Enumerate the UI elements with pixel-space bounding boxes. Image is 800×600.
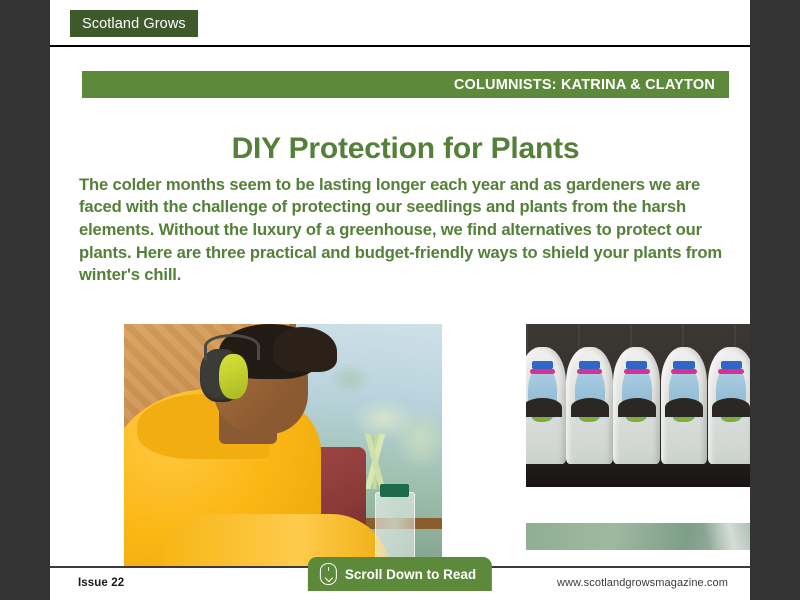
columnists-ribbon-label: COLUMNISTS: KATRINA & CLAYTON <box>454 77 715 93</box>
photo-cloche-notch <box>526 398 562 417</box>
photo-cloche-notch <box>712 398 750 417</box>
photo-cloche-cap <box>721 361 742 369</box>
magazine-viewer: Scotland Grows COLUMNISTS: KATRINA & CLA… <box>0 0 800 600</box>
scroll-down-to-read-button[interactable]: Scroll Down to Read <box>308 557 492 591</box>
columnists-ribbon: COLUMNISTS: KATRINA & CLAYTON <box>82 71 729 98</box>
photo-cloche-ring <box>577 369 603 375</box>
mouse-scroll-down-icon <box>320 563 337 585</box>
photo-teen-headphones <box>124 324 442 566</box>
photo-cloche-notch <box>618 398 656 417</box>
photo-cloche-ring <box>671 369 697 375</box>
brand-tab-scotland-grows[interactable]: Scotland Grows <box>70 10 198 37</box>
photo-water-bottle <box>375 492 415 566</box>
photo-cloche-notch <box>665 398 703 417</box>
photo-cloche-ring <box>718 369 744 375</box>
photo-cloche-notch <box>571 398 609 417</box>
magazine-page[interactable]: COLUMNISTS: KATRINA & CLAYTON DIY Protec… <box>50 47 750 566</box>
photo-cloche <box>563 347 616 464</box>
page-title: DIY Protection for Plants <box>82 133 729 165</box>
photo-cloche-ring <box>624 369 650 375</box>
photo-cloche-cap <box>673 361 694 369</box>
photo-right-column <box>486 308 750 566</box>
photo-cloche-ring <box>530 369 556 375</box>
website-url[interactable]: www.scotlandgrowsmagazine.com <box>557 577 728 589</box>
intro-paragraph: The colder months seem to be lasting lon… <box>79 174 725 288</box>
photo-cloche <box>657 347 710 464</box>
issue-label: Issue 22 <box>78 577 124 589</box>
photo-cloche-cap <box>532 361 553 369</box>
photo-bottle-cloches <box>526 324 750 487</box>
photo-headband <box>204 334 261 360</box>
brand-tab-label: Scotland Grows <box>82 16 186 32</box>
photo-cloche-cap <box>626 361 647 369</box>
scroll-down-to-read-label: Scroll Down to Read <box>345 567 476 582</box>
photo-foliage-region <box>526 523 750 550</box>
photo-cloche-row <box>526 347 750 464</box>
photo-cloche <box>610 347 663 464</box>
photo-cloche-cap <box>579 361 600 369</box>
photo-row <box>84 308 716 566</box>
photo-cloche <box>705 347 750 464</box>
photo-ear-defender-accent <box>219 354 248 399</box>
photo-garden-strip <box>526 523 750 550</box>
photo-bottle-cap <box>380 484 409 497</box>
